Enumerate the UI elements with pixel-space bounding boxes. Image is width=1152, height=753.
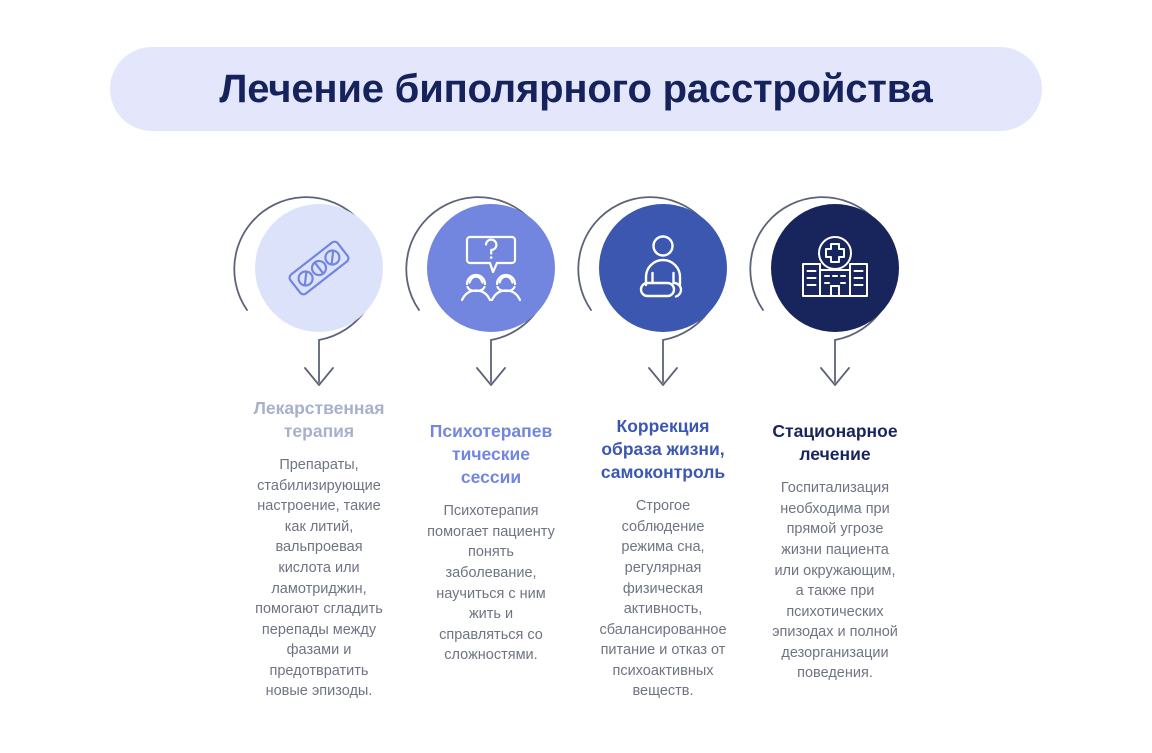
step-2: Психотерапев тические сессии Психотерапи…	[405, 182, 577, 702]
pill-blister-icon	[281, 230, 357, 306]
step-4: Стационарное лечение Госпитализация необ…	[749, 182, 921, 702]
hospital-icon	[798, 234, 872, 302]
step-3-circle	[599, 204, 727, 332]
step-2-heading: Психотерапев тические сессии	[401, 420, 581, 489]
title-banner: Лечение биполярного расстройства	[110, 47, 1042, 131]
step-3-body: Строгое соблюдение режима сна, регулярна…	[573, 496, 753, 702]
page-title: Лечение биполярного расстройства	[219, 67, 932, 112]
step-4-text: Стационарное лечение Госпитализация необ…	[745, 420, 925, 684]
infographic-page: Лечение биполярного расстройства	[0, 0, 1152, 753]
step-4-heading: Стационарное лечение	[745, 420, 925, 466]
step-3: Коррекция образа жизни, самоконтроль Стр…	[577, 182, 749, 702]
step-2-node	[405, 182, 577, 410]
meditating-person-icon	[630, 233, 696, 303]
step-4-node	[749, 182, 921, 410]
step-4-body: Госпитализация необходима при прямой угр…	[745, 478, 925, 684]
step-2-text: Психотерапев тические сессии Психотерапи…	[401, 420, 581, 666]
therapy-session-icon	[454, 232, 528, 304]
step-2-body: Психотерапия помогает пациенту понять за…	[401, 501, 581, 666]
step-1-circle	[255, 204, 383, 332]
step-1-node	[233, 182, 405, 387]
step-2-circle	[427, 204, 555, 332]
step-1-text: Лекарственная терапия Препараты, стабили…	[229, 397, 409, 702]
step-3-node	[577, 182, 749, 405]
step-4-circle	[771, 204, 899, 332]
step-3-text: Коррекция образа жизни, самоконтроль Стр…	[573, 415, 753, 702]
steps-row: Лекарственная терапия Препараты, стабили…	[233, 182, 923, 702]
step-3-heading: Коррекция образа жизни, самоконтроль	[573, 415, 753, 484]
step-1: Лекарственная терапия Препараты, стабили…	[233, 182, 405, 702]
step-1-body: Препараты, стабилизирующие настроение, т…	[229, 455, 409, 702]
